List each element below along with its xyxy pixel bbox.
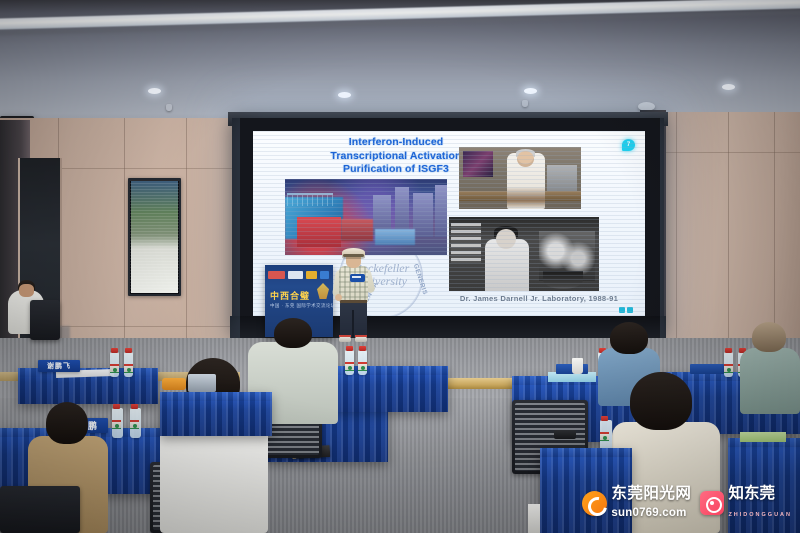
slide-badge-icon: 7 [622,139,635,151]
aerial-city-campus-photo [285,179,447,255]
conference-room-photo: • SCIENTIA PRO BONO HUMANI GENERIS Rocke… [0,0,800,533]
watermark-right-text: 知东莞 ZHIDONGGUAN [728,485,792,521]
presenter-belt [340,300,367,303]
lab-scientist-color-photo [459,147,581,209]
attendee-body [740,348,800,414]
bottle-cap [346,346,353,351]
bw-lab-rack [451,223,481,263]
campus-building [375,229,415,245]
bottle-label [358,362,367,371]
presenter-shoe-accent [355,335,367,337]
attendee-hair [752,322,786,352]
bottle-label [112,420,121,429]
bottle-label [724,364,733,373]
watermark-zhidongguan: 知东莞 ZHIDONGGUAN [700,485,792,521]
researcher-head [496,229,516,249]
bottle-label-mark [133,424,137,428]
podium-headline: 中西合璧 [270,289,310,302]
bottle-label-mark [603,436,607,440]
bottle-label [345,362,354,371]
bottle-label [110,364,119,373]
pip-icon [619,307,625,313]
building [395,187,409,235]
sponsor-logo-icon [306,271,317,279]
bottle-cap [131,404,138,409]
paper-cup [572,358,583,374]
attendee-hair [630,372,692,430]
table-paper [740,432,786,442]
presenter [333,248,373,343]
table-row [160,392,272,436]
slide-badge-number: 7 [622,139,635,151]
attendee-far-right [740,322,800,414]
slide-caption: Dr. James Darnell Jr. Laboratory, 1988-9… [439,294,639,303]
placard-stand [528,504,540,533]
slide-bottom-pips [619,307,633,313]
watermark-sun0769: 东莞阳光网 sun0769.com [582,485,691,521]
water-bottle [130,408,141,438]
bottle-label-mark [115,424,119,428]
remote-device [554,430,576,439]
wall-seam [58,168,258,169]
watermark-left-text: 东莞阳光网 sun0769.com [611,485,691,521]
attendee-hair [274,318,312,348]
scientist-head [517,151,534,167]
attendee-hair [46,402,88,444]
ceiling-downlight [722,84,735,90]
microphone-label [352,276,361,278]
attendee-head [19,284,34,297]
presenter-hand [335,294,342,301]
bridge [287,193,333,206]
side-screen-scanlines [130,180,179,294]
watermark-right-en: ZHIDONGGUAN [728,512,792,518]
ceiling-downlight [148,88,161,94]
building [413,193,433,237]
attendee-hair [610,322,648,354]
ceiling-downlight [524,88,537,94]
fruit-tray [162,378,186,390]
bottle-label-mark [127,368,131,372]
water-bottle [358,350,367,375]
wall-seam [58,326,258,327]
lab-researcher-bw-photo [449,217,599,291]
watermark-right-cn: 知东莞 [728,485,775,502]
name-placard: 谢鹏飞 [38,360,80,372]
chair [0,486,80,533]
name-placard-text: 谢鹏飞 [47,361,71,371]
bottle-label [124,364,133,373]
bottle-label-mark [348,366,352,370]
bottle-cap [359,346,366,351]
presenter-leg-split [352,310,354,337]
building [435,185,447,237]
sprinkler-head [166,104,172,111]
pip-icon [627,307,633,313]
bottle-cap [111,348,118,353]
water-bottle [124,352,133,377]
sun-logo-icon [582,491,607,516]
zhidongguan-logo-icon [700,491,724,515]
sprinkler-head [522,100,528,107]
presenter-hat-band [343,254,364,257]
bottle-cap [601,416,608,421]
bottle-label-mark [361,366,365,370]
tablet-device [188,374,216,392]
podium-emblem-icon [317,283,329,299]
sponsor-logos [268,269,330,280]
bottle-cap [125,348,132,353]
chair [30,300,60,340]
water-bottle [110,352,119,377]
sponsor-logo-icon [268,271,285,279]
lab-monitor [463,151,493,177]
sponsor-logo-icon [320,271,329,279]
table-skirt [160,392,272,436]
watermark-left-cn: 东莞阳光网 [611,485,691,502]
bottle-label-mark [113,368,117,372]
watermark-left-en: sun0769.com [611,507,686,519]
side-display-screen [128,178,181,296]
water-bottle [112,408,123,438]
bottle-cap [113,404,120,409]
ceiling-downlight [338,92,351,98]
watermark-group: 东莞阳光网 sun0769.com 知东莞 ZHIDONGGUAN [582,485,792,521]
bw-basin [543,271,583,289]
bottle-label [130,420,139,429]
red-roof-building [297,217,341,247]
bottle-label-mark [727,368,731,372]
red-roof-building [341,219,373,241]
sponsor-logo-icon [288,271,303,279]
presenter-shoe-accent [339,335,351,337]
water-bottle [724,352,733,377]
podium-subtitle: 中国 · 东莞 国际学术交流论坛 [270,303,336,309]
bottle-cap [725,348,732,353]
water-bottle [345,350,354,375]
presenter-shirt [339,266,368,302]
bottle-label [600,432,609,441]
